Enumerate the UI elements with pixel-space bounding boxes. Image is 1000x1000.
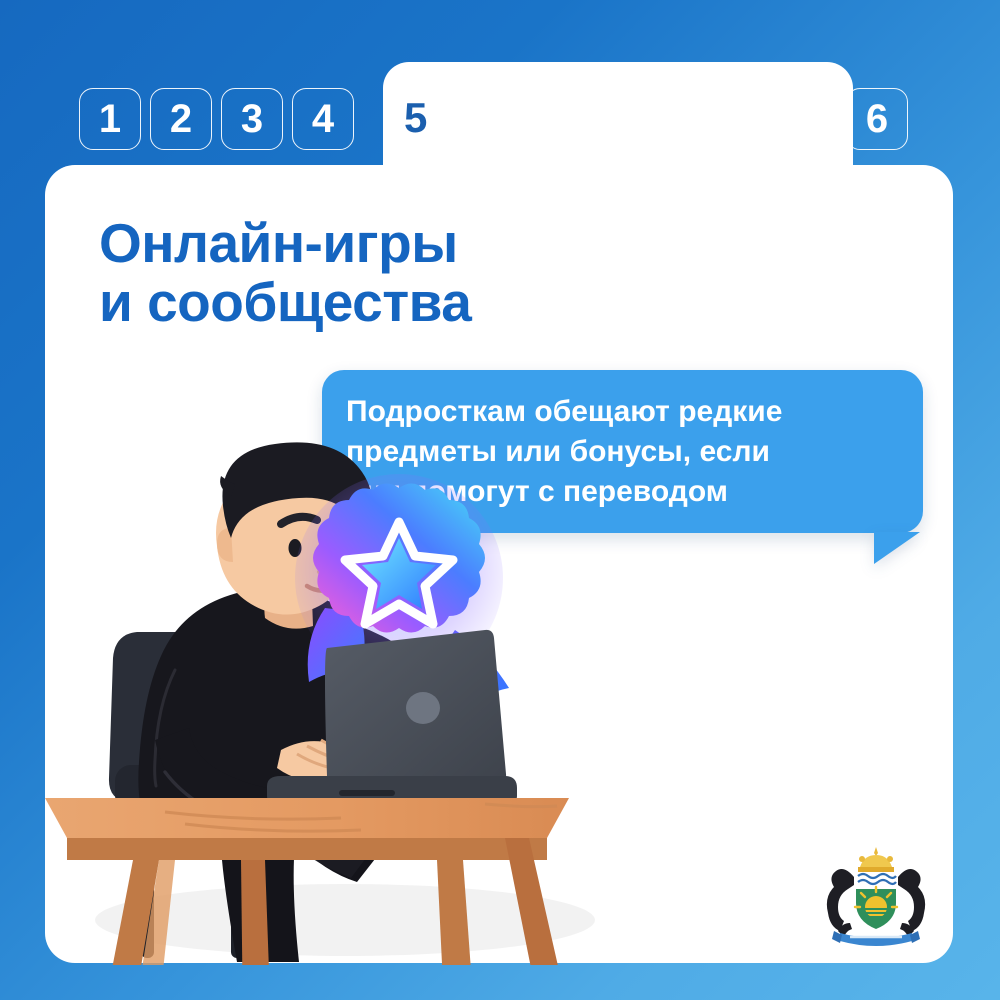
- speech-bubble-tail: [874, 532, 920, 564]
- tyumen-oblast-coat-of-arms-icon: [820, 845, 932, 950]
- tab-card-bridge: [383, 150, 853, 190]
- tab-6[interactable]: 6: [846, 88, 908, 150]
- illustration-teen-at-laptop: [45, 420, 605, 965]
- page-title: Онлайн-игры и сообщества: [99, 214, 471, 332]
- tab-strip: 1 2 3 4 5 6: [0, 0, 1000, 166]
- poster-canvas: 1 2 3 4 5 6 Онлайн-игры и сообщества Под…: [0, 0, 1000, 1000]
- shield-icon: [855, 873, 897, 929]
- tab-5-label: 5: [404, 97, 427, 139]
- tab-2[interactable]: 2: [150, 88, 212, 150]
- tab-4[interactable]: 4: [292, 88, 354, 150]
- tab-3[interactable]: 3: [221, 88, 283, 150]
- tab-1[interactable]: 1: [79, 88, 141, 150]
- crown-icon: [858, 847, 894, 872]
